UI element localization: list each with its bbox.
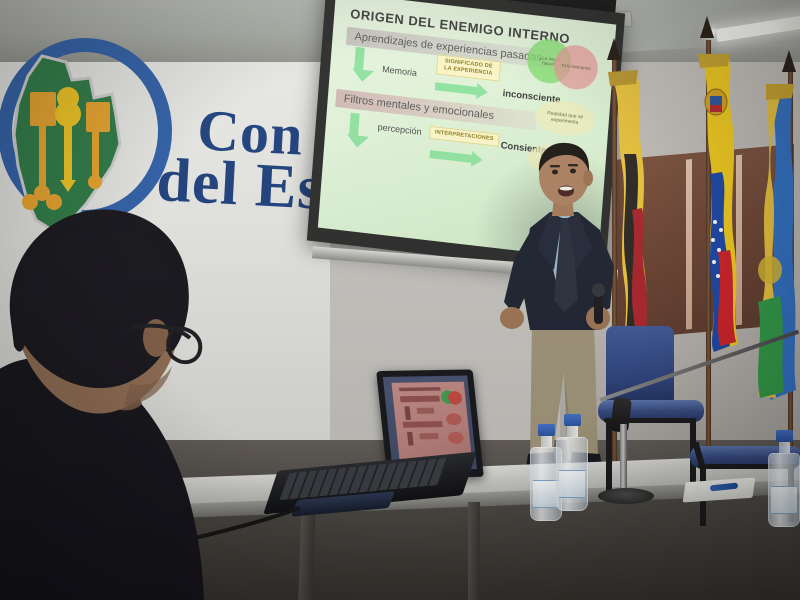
venn-circle-pink: Yo lo interpreto (552, 43, 599, 92)
flagpole-right-finial-icon (782, 50, 796, 72)
microphone-stand-pole[interactable] (620, 424, 627, 492)
slide-venn-diagram: ¿Lo voy a hacer? Yo lo interpreto (525, 37, 605, 98)
slide-label-memoria: Memoria (382, 64, 418, 78)
bottle-cap-icon (776, 430, 793, 442)
flag-venezuela (684, 54, 744, 354)
flag-right-state (736, 84, 800, 404)
flagpole-center-finial-icon (700, 16, 714, 38)
slide-oval-realidad-top: Realidad que se experimenta (534, 98, 596, 139)
water-bottle-2[interactable] (556, 414, 588, 511)
arrow-right-consiente-icon (429, 146, 483, 168)
laptop-mirrored-slide (391, 382, 472, 465)
arrow-right-inconsciente-icon (434, 78, 488, 100)
arrow-down-percepcion-icon (346, 112, 362, 147)
bottle-cap-icon (564, 414, 581, 426)
arrow-down-memoria-icon (351, 47, 367, 82)
flagpole-left-finial-icon (607, 38, 621, 60)
microphone-stand-base (598, 488, 654, 504)
photo-scene: Con del Est ORIGEN DEL ENEMIGO INTERNO A… (0, 0, 800, 600)
bottle-cap-icon (538, 424, 555, 436)
water-bottle-3[interactable] (768, 430, 800, 527)
seated-attendee (0, 188, 270, 600)
slide-label-percepcion: percepción (377, 122, 422, 137)
laptop-open[interactable] (262, 370, 492, 520)
